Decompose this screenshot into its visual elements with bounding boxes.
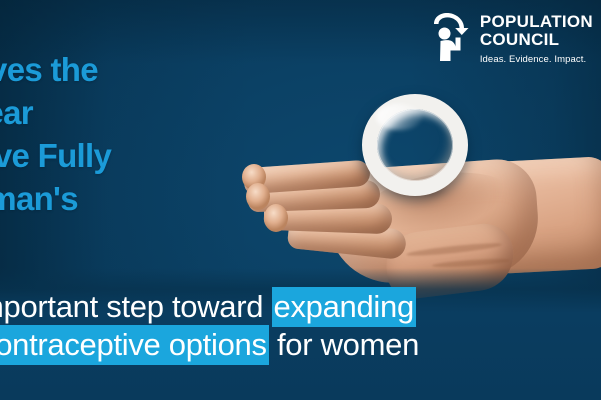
logo-wordmark: POPULATION COUNCIL Ideas. Evidence. Impa… (480, 8, 593, 67)
headline-line-4: Woman's (0, 177, 268, 220)
headline-line-2: e-Year (0, 91, 268, 134)
banner-caption: mportant step toward expanding contracep… (0, 288, 601, 364)
contraceptive-ring (362, 94, 468, 196)
population-council-logo: POPULATION COUNCIL Ideas. Evidence. Impa… (431, 8, 593, 67)
headline: proves the e-Year eptive Fully Woman's (0, 48, 268, 220)
headline-line-1: proves the (0, 48, 268, 91)
hand-photo (236, 78, 601, 300)
logo-line-population: POPULATION (480, 13, 593, 31)
banner-plain-text-2: for women (269, 327, 419, 362)
promo-banner-image: proves the e-Year eptive Fully Woman's m… (0, 0, 601, 400)
banner-caption-line-1: mportant step toward expanding (0, 288, 601, 326)
population-council-figure-icon (431, 10, 471, 62)
banner-caption-line-2: contraceptive options for women (0, 326, 601, 364)
banner-highlight-expanding: expanding (272, 287, 416, 327)
logo-tagline: Ideas. Evidence. Impact. (480, 53, 593, 67)
logo-line-council: COUNCIL (480, 31, 593, 49)
banner-highlight-contraceptive-options: contraceptive options (0, 325, 269, 365)
banner-plain-text-1: mportant step toward (0, 289, 272, 324)
headline-line-3: eptive Fully (0, 134, 268, 177)
